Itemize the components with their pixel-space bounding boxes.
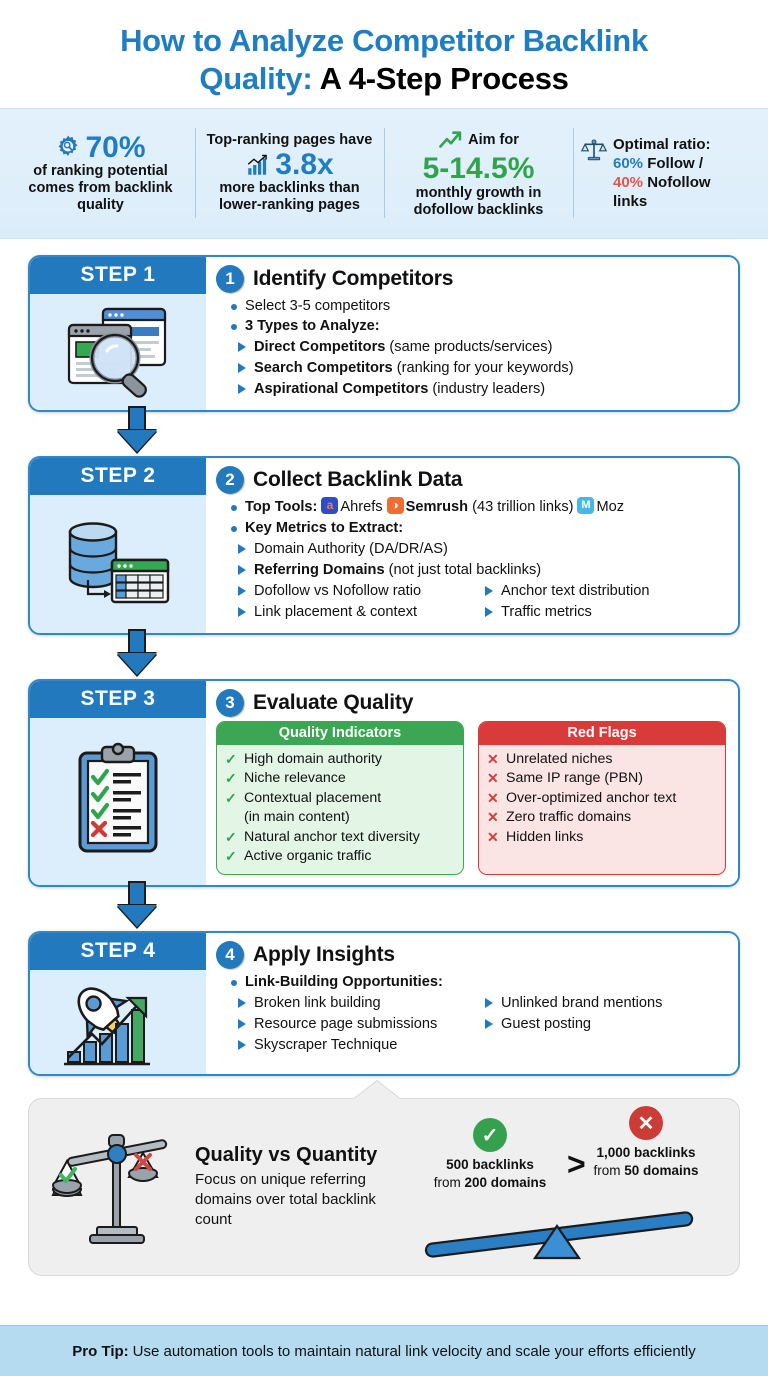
- list-item: Domain Authority (DA/DR/AS): [238, 539, 726, 560]
- list-item: ✕Zero traffic domains: [486, 808, 718, 828]
- list-item-continuation: (in main content): [224, 808, 456, 828]
- step-1-title: Identify Competitors: [253, 267, 453, 291]
- stat-card-optimal-ratio: Optimal ratio: 60% Follow / 40% Nofollow…: [573, 117, 762, 230]
- metric-bold: Referring Domains: [254, 562, 385, 578]
- quality-indicators-header: Quality Indicators: [217, 722, 463, 745]
- comparison-graphic: ✓ 500 backlinks from 200 domains > ✕ 1,0…: [405, 1112, 723, 1262]
- check-icon: ✓: [225, 789, 237, 808]
- metrics-column-1: Dofollow vs Nofollow ratio Link placemen…: [238, 581, 479, 623]
- cross-icon: ✕: [487, 769, 499, 788]
- check-icon: ✓: [225, 847, 237, 866]
- seesaw-icon: [419, 1200, 709, 1260]
- step-1-bullets: Select 3-5 competitors 3 Types to Analyz…: [230, 296, 726, 337]
- metrics-column-2: Anchor text distribution Traffic metrics: [485, 581, 726, 623]
- step-2-metrics-columns: Dofollow vs Nofollow ratio Link placemen…: [216, 581, 726, 623]
- connector-2-to-3: [28, 635, 740, 679]
- right-line-2-bold: 50 domains: [624, 1163, 698, 1178]
- comparison-right-label: 1,000 backlinks from 50 domains: [571, 1144, 721, 1179]
- subitem-rest: (ranking for your keywords): [393, 360, 574, 376]
- list-item: Select 3-5 competitors: [230, 296, 726, 317]
- tool-name-ahrefs: Ahrefs: [340, 499, 382, 515]
- step-3-left-panel: STEP 3: [30, 681, 206, 886]
- step-card-1[interactable]: STEP 1: [28, 255, 740, 412]
- list-item: Aspirational Competitors (industry leade…: [238, 379, 726, 400]
- stat-desc-1: of ranking potential comes from backlink…: [14, 163, 187, 214]
- step-2-illustration: [58, 495, 178, 632]
- follow-pct: 60%: [613, 155, 643, 172]
- cross-icon: ✕: [487, 750, 499, 769]
- step-1-badge: STEP 1: [30, 257, 206, 294]
- summary-title: Quality vs Quantity: [195, 1144, 397, 1167]
- scales-icon: [581, 137, 607, 163]
- list-item: Direct Competitors (same products/servic…: [238, 337, 726, 358]
- list-item: ✓Natural anchor text diversity: [224, 828, 456, 848]
- check-icon: ✓: [225, 828, 237, 847]
- step-4-left-panel: STEP 4: [30, 933, 206, 1074]
- gear-search-icon: [55, 134, 81, 160]
- list-item: ✓Niche relevance: [224, 769, 456, 789]
- balance-scale-icon: [51, 1127, 189, 1247]
- step-4-content: 4 Apply Insights Link-Building Opportuni…: [206, 933, 738, 1074]
- semrush-icon: [387, 497, 404, 514]
- check-circle-icon: ✓: [473, 1118, 507, 1152]
- step-1-illustration: [59, 294, 177, 410]
- nofollow-pct: 40%: [613, 174, 643, 191]
- bar-chart-up-icon: [245, 152, 271, 178]
- title-text-blue-2: Quality:: [199, 61, 312, 96]
- step-4-columns: Broken link building Resource page submi…: [216, 993, 726, 1056]
- opportunities-column-2: Unlinked brand mentions Guest posting: [485, 993, 726, 1056]
- step-1-content: 1 Identify Competitors Select 3-5 compet…: [206, 257, 738, 410]
- title-text-blue-1: How to Analyze Competitor Backlink: [120, 23, 648, 58]
- quality-panels: Quality Indicators ✓High domain authorit…: [216, 721, 726, 876]
- stat-value-1: 70%: [85, 132, 145, 164]
- stats-band: 70% of ranking potential comes from back…: [0, 108, 768, 239]
- title-line-1: How to Analyze Competitor Backlink: [26, 22, 742, 60]
- step-3-badge: STEP 3: [30, 681, 206, 718]
- summary-text: Quality vs Quantity Focus on unique refe…: [195, 1144, 405, 1230]
- step-2-left-panel: STEP 2: [30, 458, 206, 632]
- red-flags-header: Red Flags: [479, 722, 725, 745]
- moz-icon: [577, 497, 594, 514]
- subitem-bold: Direct Competitors: [254, 339, 385, 355]
- step-1-subbullets: Direct Competitors (same products/servic…: [238, 337, 726, 400]
- connector-3-to-4: [28, 887, 740, 931]
- trend-up-icon: [438, 127, 464, 153]
- rocket-growth-icon: [54, 976, 182, 1068]
- step-3-illustration: [68, 718, 168, 886]
- title-text-black: A 4-Step Process: [320, 61, 569, 96]
- step-2-bullets: Top Tools:AhrefsSemrush (43 trillion lin…: [230, 497, 726, 538]
- stat-lead-2: Top-ranking pages have: [203, 132, 376, 149]
- list-item: Search Competitors (ranking for your key…: [238, 358, 726, 379]
- tools-label: Top Tools:: [245, 499, 317, 515]
- subitem-bold: Search Competitors: [254, 360, 393, 376]
- stat-card-ranking-potential: 70% of ranking potential comes from back…: [6, 117, 195, 230]
- list-item: Broken link building: [238, 993, 479, 1014]
- page-title: How to Analyze Competitor Backlink Quali…: [0, 0, 768, 108]
- comparison-right: ✕ 1,000 backlinks from 50 domains: [571, 1106, 721, 1179]
- list-item: ✓Active organic traffic: [224, 847, 456, 867]
- summary-notch: [354, 1081, 400, 1099]
- red-flags-list: ✕Unrelated niches ✕Same IP range (PBN) ✕…: [479, 745, 725, 855]
- quality-indicators-panel: Quality Indicators ✓High domain authorit…: [216, 721, 464, 876]
- step-3-content: 3 Evaluate Quality Quality Indicators ✓H…: [206, 681, 738, 886]
- list-item: 3 Types to Analyze:: [230, 316, 726, 337]
- step-card-4[interactable]: STEP 4: [28, 931, 740, 1076]
- steps-container: STEP 1: [0, 239, 768, 1076]
- step-2-metrics-full: Domain Authority (DA/DR/AS) Referring Do…: [238, 539, 726, 581]
- list-item: Skyscraper Technique: [238, 1035, 479, 1056]
- subitem-rest: (industry leaders): [428, 381, 545, 397]
- right-line-2-prefix: from: [593, 1163, 624, 1178]
- list-item-tools: Top Tools:AhrefsSemrush (43 trillion lin…: [230, 497, 726, 518]
- list-item: ✕Same IP range (PBN): [486, 769, 718, 789]
- stat-lead-3: Aim for: [468, 132, 519, 149]
- pro-tip-label: Pro Tip:: [72, 1343, 128, 1360]
- step-3-number: 3: [216, 689, 244, 717]
- step-2-title: Collect Backlink Data: [253, 468, 462, 492]
- cross-icon: ✕: [487, 789, 499, 808]
- list-item: ✓Contextual placement: [224, 789, 456, 809]
- left-line-2-prefix: from: [434, 1175, 465, 1190]
- step-3-title: Evaluate Quality: [253, 691, 413, 715]
- red-flags-panel: Red Flags ✕Unrelated niches ✕Same IP ran…: [478, 721, 726, 876]
- step-1-left-panel: STEP 1: [30, 257, 206, 410]
- summary-section: Quality vs Quantity Focus on unique refe…: [0, 1098, 768, 1276]
- stat-desc-2: more backlinks than lower-ranking pages: [203, 180, 376, 214]
- list-item: Referring Domains (not just total backli…: [238, 560, 726, 581]
- follow-label: Follow /: [647, 155, 703, 172]
- step-1-number: 1: [216, 265, 244, 293]
- quality-indicators-list: ✓High domain authority ✓Niche relevance …: [217, 745, 463, 875]
- list-item: Anchor text distribution: [485, 581, 726, 602]
- stat-value-2: 3.8x: [275, 149, 333, 181]
- step-4-bullets: Link-Building Opportunities:: [230, 972, 726, 993]
- right-line-1: 1,000 backlinks: [596, 1145, 695, 1160]
- step-card-3[interactable]: STEP 3: [28, 679, 740, 888]
- summary-body: Focus on unique referring domains over t…: [195, 1170, 397, 1230]
- step-4-title: Apply Insights: [253, 943, 395, 967]
- step-card-2[interactable]: STEP 2: [28, 456, 740, 634]
- step-4-badge: STEP 4: [30, 933, 206, 970]
- list-item: Unlinked brand mentions: [485, 993, 726, 1014]
- step-4-illustration: [54, 970, 182, 1074]
- list-item: Dofollow vs Nofollow ratio: [238, 581, 479, 602]
- metrics-label: Key Metrics to Extract:: [230, 518, 726, 539]
- pro-tip-bar: Pro Tip: Use automation tools to maintai…: [0, 1325, 768, 1376]
- subitem-rest: (same products/services): [385, 339, 552, 355]
- comparison-left-label: 500 backlinks from 200 domains: [415, 1156, 565, 1191]
- tool-name-semrush: Semrush: [406, 499, 468, 515]
- cross-icon: ✕: [487, 808, 499, 827]
- nofollow-label: Nofollow: [647, 174, 710, 191]
- list-item: ✓High domain authority: [224, 750, 456, 770]
- database-table-icon: [58, 518, 178, 610]
- left-line-1: 500 backlinks: [446, 1157, 534, 1172]
- comparison-left: ✓ 500 backlinks from 200 domains: [415, 1118, 565, 1191]
- stat-desc-3: monthly growth in dofollow backlinks: [392, 185, 565, 219]
- subitem-bold: Aspirational Competitors: [254, 381, 428, 397]
- stat-lead-4: Optimal ratio:: [613, 135, 711, 154]
- list-item: ✕Hidden links: [486, 828, 718, 848]
- list-item: Traffic metrics: [485, 602, 726, 623]
- check-icon: ✓: [225, 769, 237, 788]
- stat-value-3: 5-14.5%: [392, 153, 565, 185]
- summary-illustration: [45, 1127, 195, 1247]
- ratio-tail: links: [613, 192, 711, 211]
- list-item: Guest posting: [485, 1014, 726, 1035]
- quality-vs-quantity-card: Quality vs Quantity Focus on unique refe…: [28, 1098, 740, 1276]
- step-4-number: 4: [216, 941, 244, 969]
- ahrefs-icon: [321, 497, 338, 514]
- list-item: Link-Building Opportunities:: [230, 972, 726, 993]
- step-2-badge: STEP 2: [30, 458, 206, 495]
- connector-1-to-2: [28, 412, 740, 456]
- list-item: ✕Over-optimized anchor text: [486, 789, 718, 809]
- step-2-content: 2 Collect Backlink Data Top Tools:Ahrefs…: [206, 458, 738, 632]
- x-circle-icon: ✕: [629, 1106, 663, 1140]
- opportunities-column-1: Broken link building Resource page submi…: [238, 993, 479, 1056]
- semrush-note: (43 trillion links): [472, 499, 573, 515]
- stat-card-backlink-multiplier: Top-ranking pages have 3.8x more backlin…: [195, 117, 384, 230]
- tool-name-moz: Moz: [596, 499, 624, 515]
- list-item: Link placement & context: [238, 602, 479, 623]
- pro-tip-text: Use automation tools to maintain natural…: [133, 1343, 696, 1360]
- left-line-2-bold: 200 domains: [464, 1175, 546, 1190]
- metric-rest: (not just total backlinks): [385, 562, 542, 578]
- cross-icon: ✕: [487, 828, 499, 847]
- step-2-number: 2: [216, 466, 244, 494]
- check-icon: ✓: [225, 750, 237, 769]
- title-line-2: Quality: A 4-Step Process: [26, 60, 742, 98]
- clipboard-checklist-icon: [68, 741, 168, 861]
- list-item: ✕Unrelated niches: [486, 750, 718, 770]
- browser-magnifier-icon: [59, 303, 177, 401]
- stat-card-monthly-growth: Aim for 5-14.5% monthly growth in dofoll…: [384, 117, 573, 230]
- list-item: Resource page submissions: [238, 1014, 479, 1035]
